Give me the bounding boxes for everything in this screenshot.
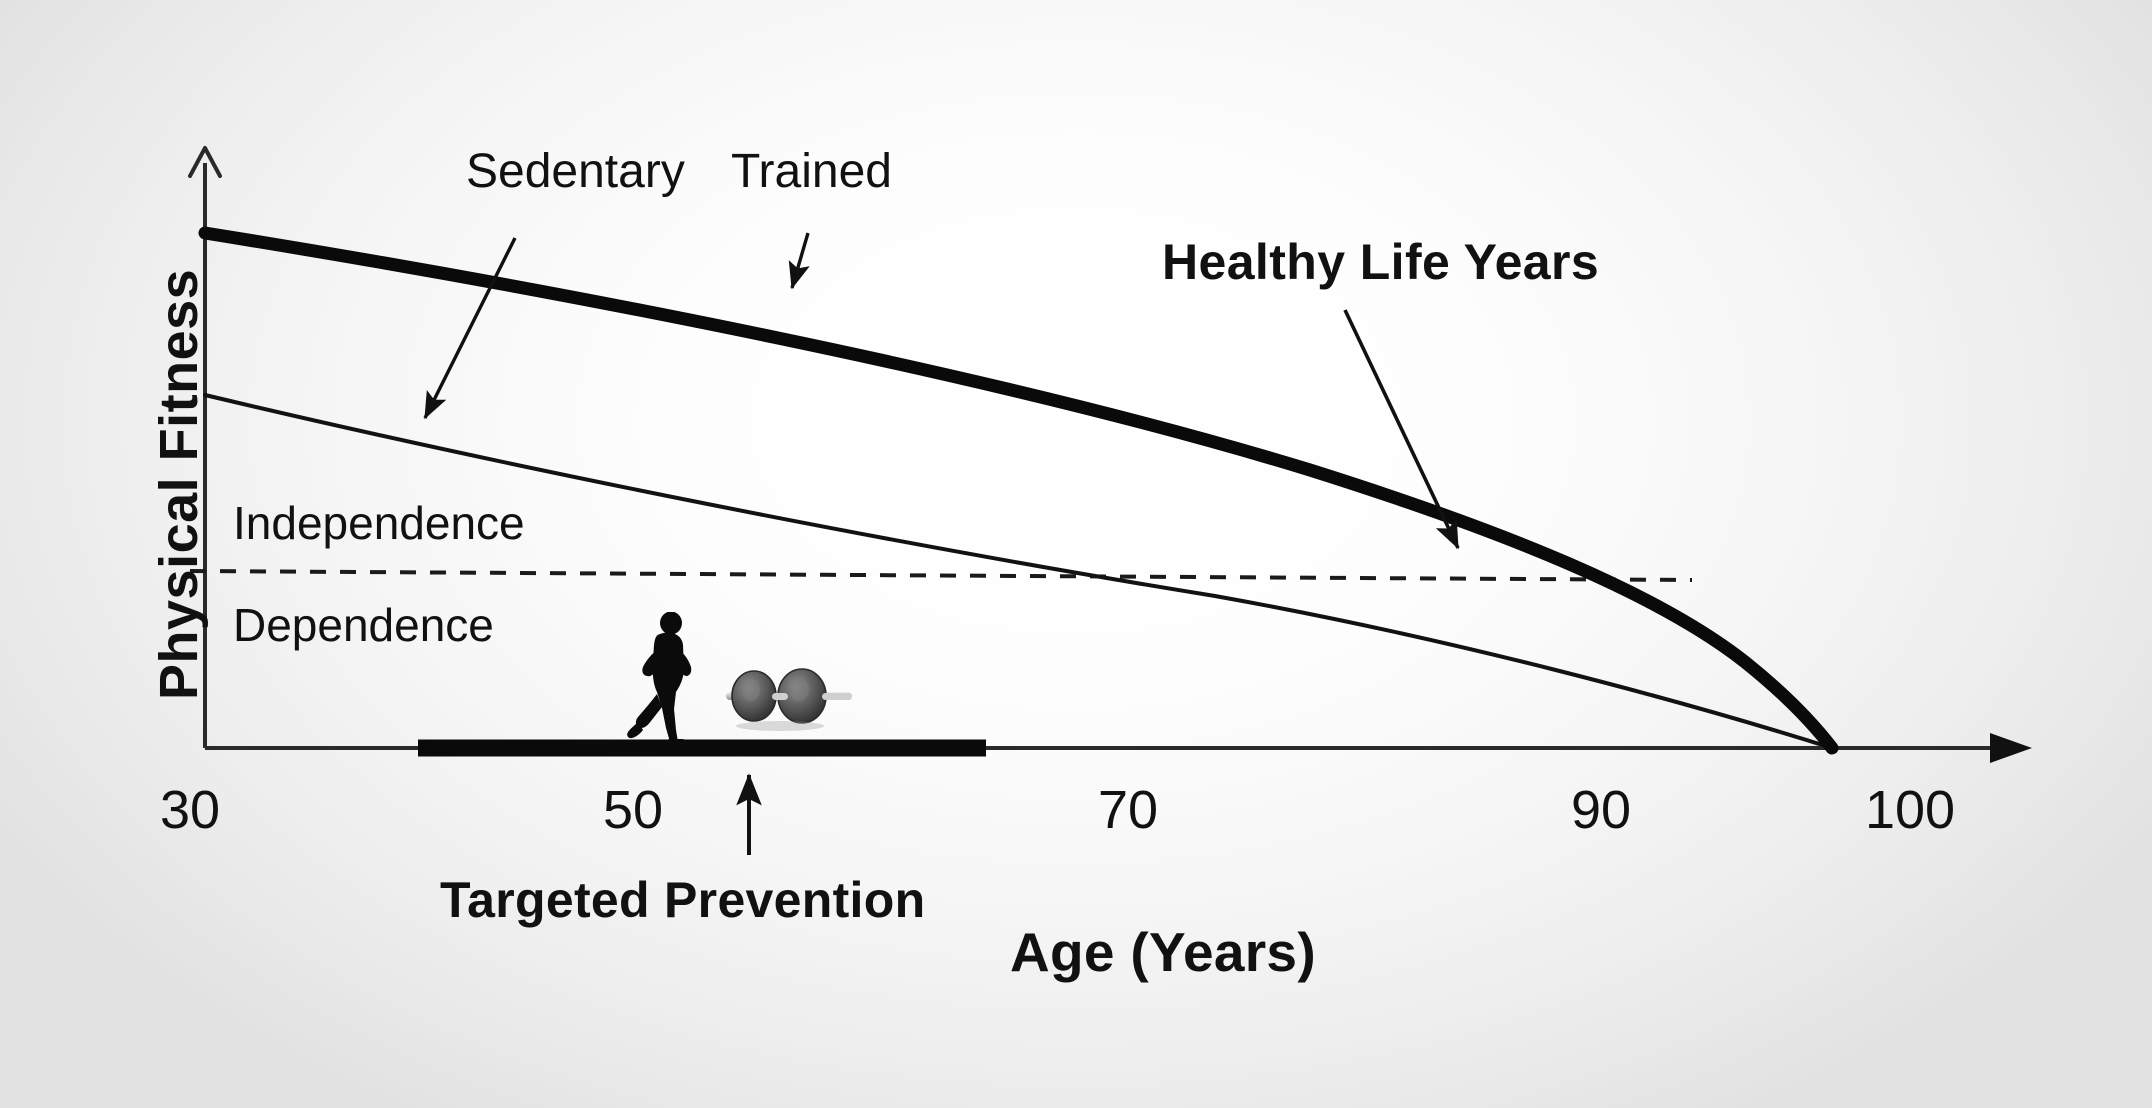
series-line-trained [205,233,1832,748]
annotation-healthy-life-years: Healthy Life Years [1162,237,1599,287]
x-tick-label: 90 [1571,779,1631,841]
annotation-independence: Independence [233,500,525,546]
arrow-down-left-icon [425,238,515,418]
x-tick-label: 30 [160,779,220,841]
x-tick-label: 50 [603,779,663,841]
annotation-trained: Trained [731,148,892,196]
arrow-down-right-icon [1345,310,1458,548]
annotation-targeted-prevention: Targeted Prevention [440,875,925,925]
annotation-dependence: Dependence [233,602,494,648]
arrow-down-icon [792,233,808,288]
x-axis-title: Age (Years) [1010,925,1316,980]
runner-icon [626,612,704,750]
annotation-sedentary: Sedentary [466,148,685,196]
arrow-right-icon [1990,733,2032,763]
x-tick-label: 70 [1098,779,1158,841]
independence-threshold-line [190,571,1692,580]
y-axis-title: Physical Fitness [152,269,206,700]
x-tick-label: 100 [1865,779,1955,841]
figure-canvas: Physical Fitness Age (Years) Sedentary T… [0,0,2152,1108]
dumbbell-icon [718,660,858,732]
